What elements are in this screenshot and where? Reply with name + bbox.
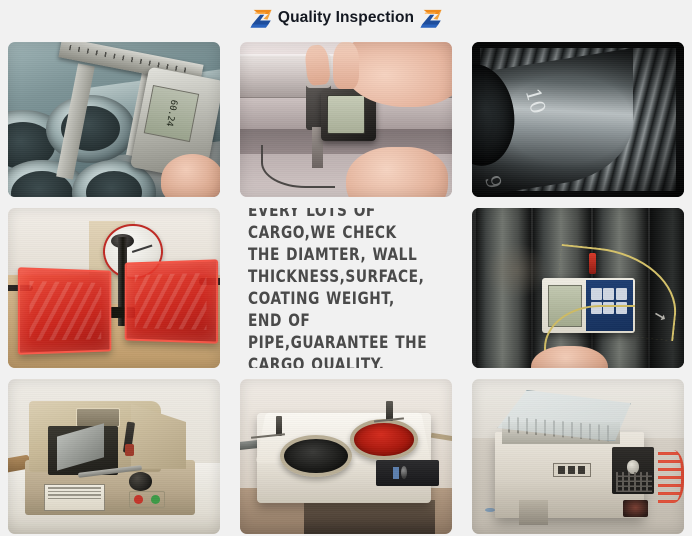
red-hose	[658, 450, 684, 503]
photo-flattening-test-rig[interactable]	[8, 208, 220, 368]
polishing-disc-red	[350, 419, 417, 460]
quality-inspection-page: Quality Inspection	[0, 0, 692, 536]
switch-row	[553, 463, 591, 477]
photo-specimen-cutting-machine[interactable]	[8, 379, 220, 534]
power-button-pad	[129, 491, 165, 509]
control-panel	[376, 460, 440, 486]
caliper-display: 60.24	[144, 85, 199, 141]
photo-ultrasonic-thickness-tester[interactable]: ➞	[472, 208, 684, 368]
photo-image: 10 9	[472, 42, 684, 197]
photo-image: 60.24	[8, 42, 220, 197]
inspection-text-block: EVERY LOTS OF CARGO,WE CHECK THE DIAMTER…	[240, 208, 452, 368]
photo-image	[472, 379, 684, 534]
machine-label-plate	[44, 484, 105, 511]
photo-caliper-pipe-diameter[interactable]: 60.24	[8, 42, 220, 197]
polishing-disc-black	[280, 435, 352, 477]
photo-stacked-pipes-perspective[interactable]: 10 9	[472, 42, 684, 197]
photo-image	[240, 379, 452, 534]
z-logo-icon	[418, 5, 444, 31]
photo-wall-thickness-gauge[interactable]	[240, 42, 452, 197]
photo-image	[8, 379, 220, 534]
inspection-text: EVERY LOTS OF CARGO,WE CHECK THE DIAMTER…	[248, 208, 434, 368]
caliper-reading: 60.24	[164, 98, 179, 127]
meter-gauge	[623, 500, 648, 517]
z-logo-icon	[248, 5, 274, 31]
page-header: Quality Inspection	[0, 0, 692, 36]
photo-polishing-grinding-machine[interactable]	[240, 379, 452, 534]
photo-image	[8, 208, 220, 368]
photo-image	[240, 42, 452, 197]
photo-image: ➞	[472, 208, 684, 368]
photo-salt-spray-test-chamber[interactable]	[472, 379, 684, 534]
page-title: Quality Inspection	[276, 9, 416, 27]
inspection-gallery-grid: 60.24	[8, 42, 684, 534]
